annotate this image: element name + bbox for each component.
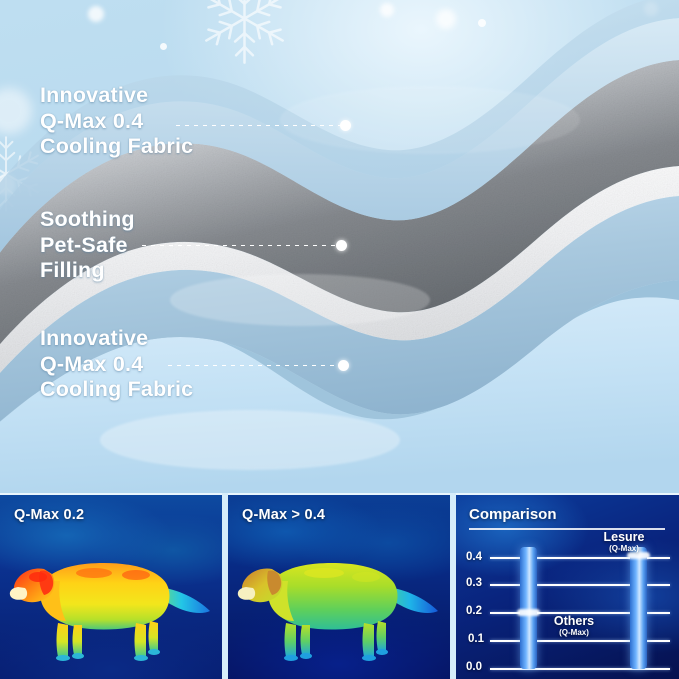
leader-dot-bottom <box>338 360 349 371</box>
bar-label-others: Others (Q-Max) <box>532 615 616 638</box>
comparison-panels: Q-Max 0.2 <box>0 493 679 679</box>
y-tick-label: 0.1 <box>468 633 484 645</box>
thermal-panel-low-qmax: Q-Max 0.2 <box>0 493 222 679</box>
foam-sheen <box>170 274 430 326</box>
bar-label-others-sub: (Q-Max) <box>532 628 616 638</box>
leader-line-bottom <box>168 365 348 366</box>
leader-dot-top <box>340 120 351 131</box>
thermal-dog-hot <box>8 543 214 663</box>
bar-label-lesure: Lesure (Q-Max) <box>582 531 666 554</box>
y-tick-label: 0.3 <box>466 577 482 589</box>
hero-section: Innovative Q-Max 0.4 Cooling Fabric Soot… <box>0 0 679 493</box>
bar-label-lesure-name: Lesure <box>582 531 666 544</box>
thermal-panel-high-label: Q-Max > 0.4 <box>242 507 325 523</box>
thermal-panel-low-label: Q-Max 0.2 <box>14 507 84 523</box>
thermal-panel-high-qmax: Q-Max > 0.4 <box>228 493 450 679</box>
callout-filling: Soothing Pet-Safe Filling <box>40 207 135 284</box>
comparison-chart-panel: Comparison 0.4 0.3 0.2 0.1 0.0 Others (Q… <box>456 493 679 679</box>
bottom-fabric-sheen <box>100 410 400 470</box>
leader-line-top <box>176 125 352 126</box>
y-tick-label: 0.4 <box>466 551 482 563</box>
callout-bottom-fabric: Innovative Q-Max 0.4 Cooling Fabric <box>40 326 193 403</box>
chart-title: Comparison <box>469 506 557 523</box>
y-tick-label: 0.2 <box>466 605 482 617</box>
leader-line-middle <box>142 245 346 246</box>
bar-lesure <box>630 547 647 669</box>
leader-dot-middle <box>336 240 347 251</box>
bar-label-lesure-sub: (Q-Max) <box>582 544 666 554</box>
bar-others <box>520 547 537 669</box>
fabric-sheen <box>280 86 580 154</box>
bar-label-others-name: Others <box>532 615 616 628</box>
thermal-dog-cool <box>236 543 442 663</box>
callout-top-fabric: Innovative Q-Max 0.4 Cooling Fabric <box>40 83 193 160</box>
y-tick-label: 0.0 <box>466 661 482 673</box>
